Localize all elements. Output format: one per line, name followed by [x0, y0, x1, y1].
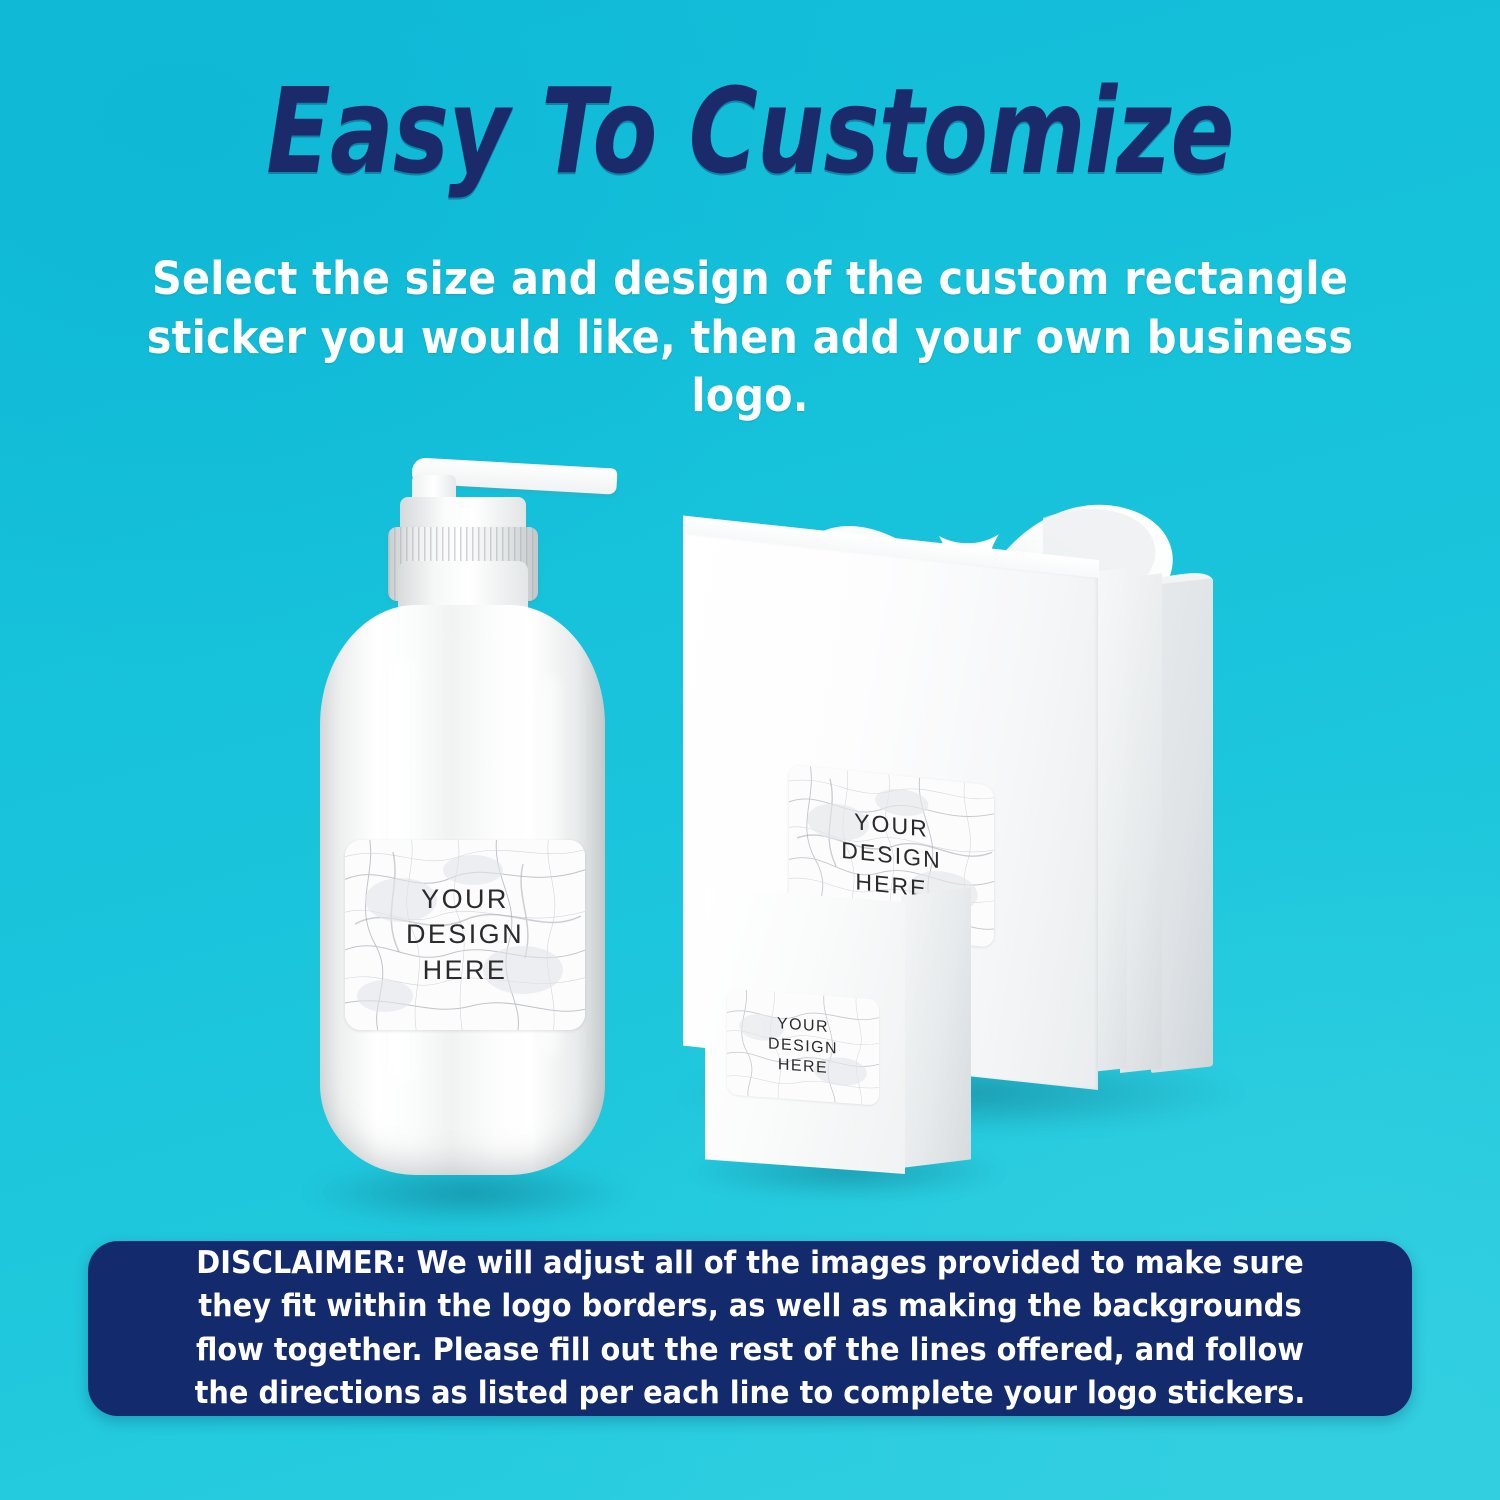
sticker-placeholder-text: YOUR DESIGN HERE: [345, 840, 585, 1030]
small-box: YOUR DESIGN HERE: [705, 890, 995, 1190]
page-title: Easy To Customize: [150, 72, 1350, 190]
promo-graphic: Easy To Customize Select the size and de…: [0, 0, 1500, 1500]
disclaimer-label: DISCLAIMER:: [196, 1245, 406, 1281]
pump-bottle: YOUR DESIGN HERE: [300, 425, 630, 1225]
sticker-line-3: HERE: [778, 1056, 828, 1080]
bottle-shadow: [308, 1167, 628, 1225]
sticker-placeholder-text: YOUR DESIGN HERE: [727, 988, 879, 1105]
disclaimer-text: DISCLAIMER: We will adjust all of the im…: [134, 1242, 1365, 1416]
small-box-side-panel: [901, 887, 971, 1168]
sticker-small-box[interactable]: YOUR DESIGN HERE: [727, 988, 879, 1105]
sticker-bottle[interactable]: YOUR DESIGN HERE: [345, 840, 585, 1030]
sticker-line-2: DESIGN: [406, 917, 524, 952]
sticker-line-3: HERE: [423, 953, 508, 988]
disclaimer-banner: DISCLAIMER: We will adjust all of the im…: [88, 1241, 1412, 1416]
product-scene: YOUR DESIGN HERE: [0, 395, 1500, 1250]
sticker-line-1: YOUR: [421, 882, 509, 917]
